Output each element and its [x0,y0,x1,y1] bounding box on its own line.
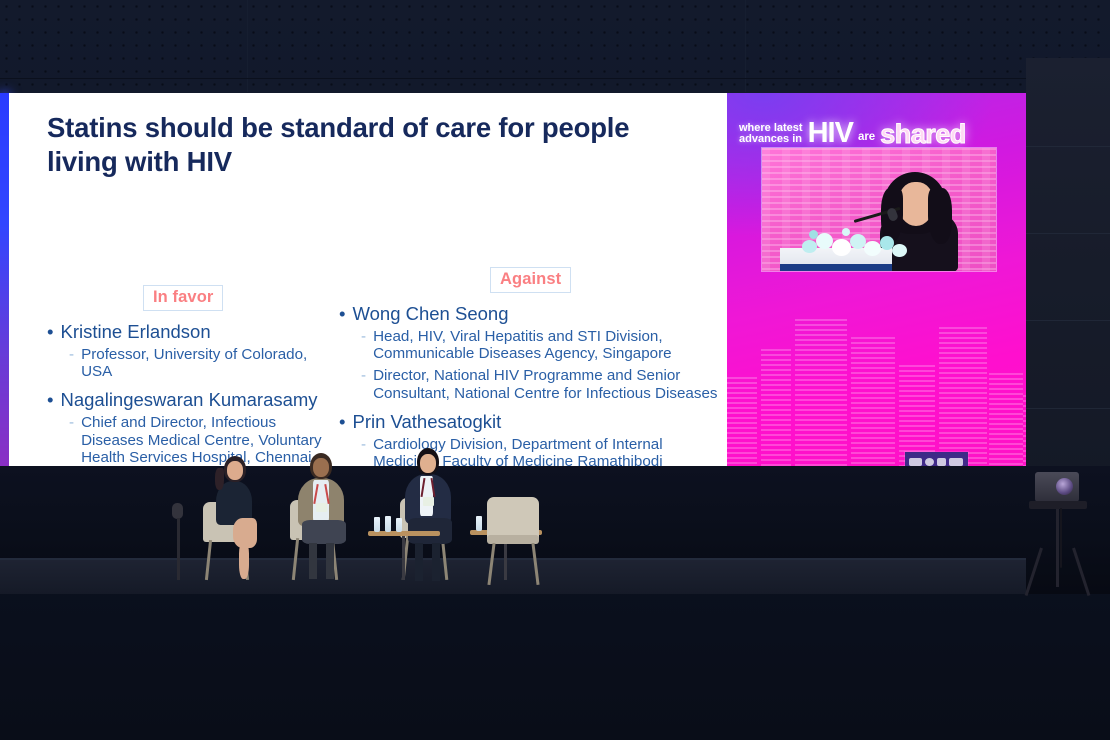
affiliation-text: Chief and Director, Infectious Diseases … [81,414,327,466]
dash-glyph: - [361,367,366,402]
bullet-glyph: • [339,303,345,325]
conference-hall-scene: Statins should be standard of care for p… [0,0,1110,740]
projection-screen: Statins should be standard of care for p… [0,93,1026,466]
speaker-entry: • Prin Vathesatogkit [339,411,719,433]
water-bottle [374,517,380,532]
wall-seam [0,78,1110,79]
wall-seam [1026,408,1110,409]
speaker-entry: • Nagalingeswaran Kumarasamy [47,389,327,411]
right-wall [1026,58,1110,488]
acoustic-panel-texture [0,0,1110,95]
dash-glyph: - [69,346,74,381]
against-column: • Wong Chen Seong - Head, HIV, Viral Hep… [339,303,719,466]
building-silhouette [989,373,1023,466]
bullet-glyph: • [339,411,345,433]
banner-are-word: are [858,132,875,147]
event-banner: where latest advances in HIV are shared [739,106,1019,146]
wall-seam [1026,320,1110,321]
affiliation-text: Director, National HIV Programme and Sen… [373,367,719,402]
speaker-affiliation: - Chief and Director, Infectious Disease… [69,414,327,466]
in-favor-column: • Kristine Erlandson - Professor, Univer… [47,321,327,466]
camera-mount-plate [1029,501,1087,509]
live-video-feed [762,148,996,271]
bullet-glyph: • [47,321,53,343]
microphone-head [172,503,183,519]
banner-line-2: advances in [739,134,803,146]
wall-seam [1026,146,1110,147]
flower-arrangement [796,226,914,260]
side-screen-panel: where latest advances in HIV are shared [727,93,1026,466]
building-silhouette [727,377,757,466]
banner-small-text: where latest advances in [739,123,803,146]
banner-shared-word: shared [880,122,966,146]
dash-glyph: - [361,436,366,466]
water-bottle [476,516,482,531]
building-silhouette [899,365,935,466]
water-bottle [396,518,402,532]
slide-title: Statins should be standard of care for p… [47,111,647,178]
bullet-glyph: • [47,389,53,411]
building-silhouette [851,337,895,466]
label-against: Against [490,267,571,293]
camera-lens-icon [1056,478,1073,495]
wall-seam [1026,233,1110,234]
dash-glyph: - [69,414,74,466]
label-in-favor: In favor [143,285,223,311]
screen-edge-light [0,93,9,466]
speaker-name: Prin Vathesatogkit [352,411,501,433]
speaker-entry: • Kristine Erlandson [47,321,327,343]
building-silhouette [795,319,847,466]
speaker-affiliation: - Director, National HIV Programme and S… [361,367,719,402]
cityscape-graphic [727,289,1026,466]
speaker-name: Nagalingeswaran Kumarasamy [60,389,317,411]
speaker-entry: • Wong Chen Seong [339,303,719,325]
dash-glyph: - [361,328,366,363]
speaker-name: Wong Chen Seong [352,303,508,325]
building-silhouette [1023,395,1026,466]
presentation-slide: Statins should be standard of care for p… [9,93,727,466]
podium-band [780,264,892,271]
audience-area [0,556,1110,740]
speaker-name: Kristine Erlandson [60,321,210,343]
building-silhouette [761,349,791,466]
speaker-affiliation: - Head, HIV, Viral Hepatitis and STI Div… [361,328,719,363]
affiliation-text: Professor, University of Colorado, USA [81,346,327,381]
water-bottle [385,516,391,532]
speaker-affiliation: - Professor, University of Colorado, USA [69,346,327,381]
speaker-affiliation: - Cardiology Division, Department of Int… [361,436,719,466]
banner-hiv-word: HIV [808,121,853,146]
building-silhouette [939,327,987,466]
affiliation-text: Head, HIV, Viral Hepatitis and STI Divis… [373,328,719,363]
